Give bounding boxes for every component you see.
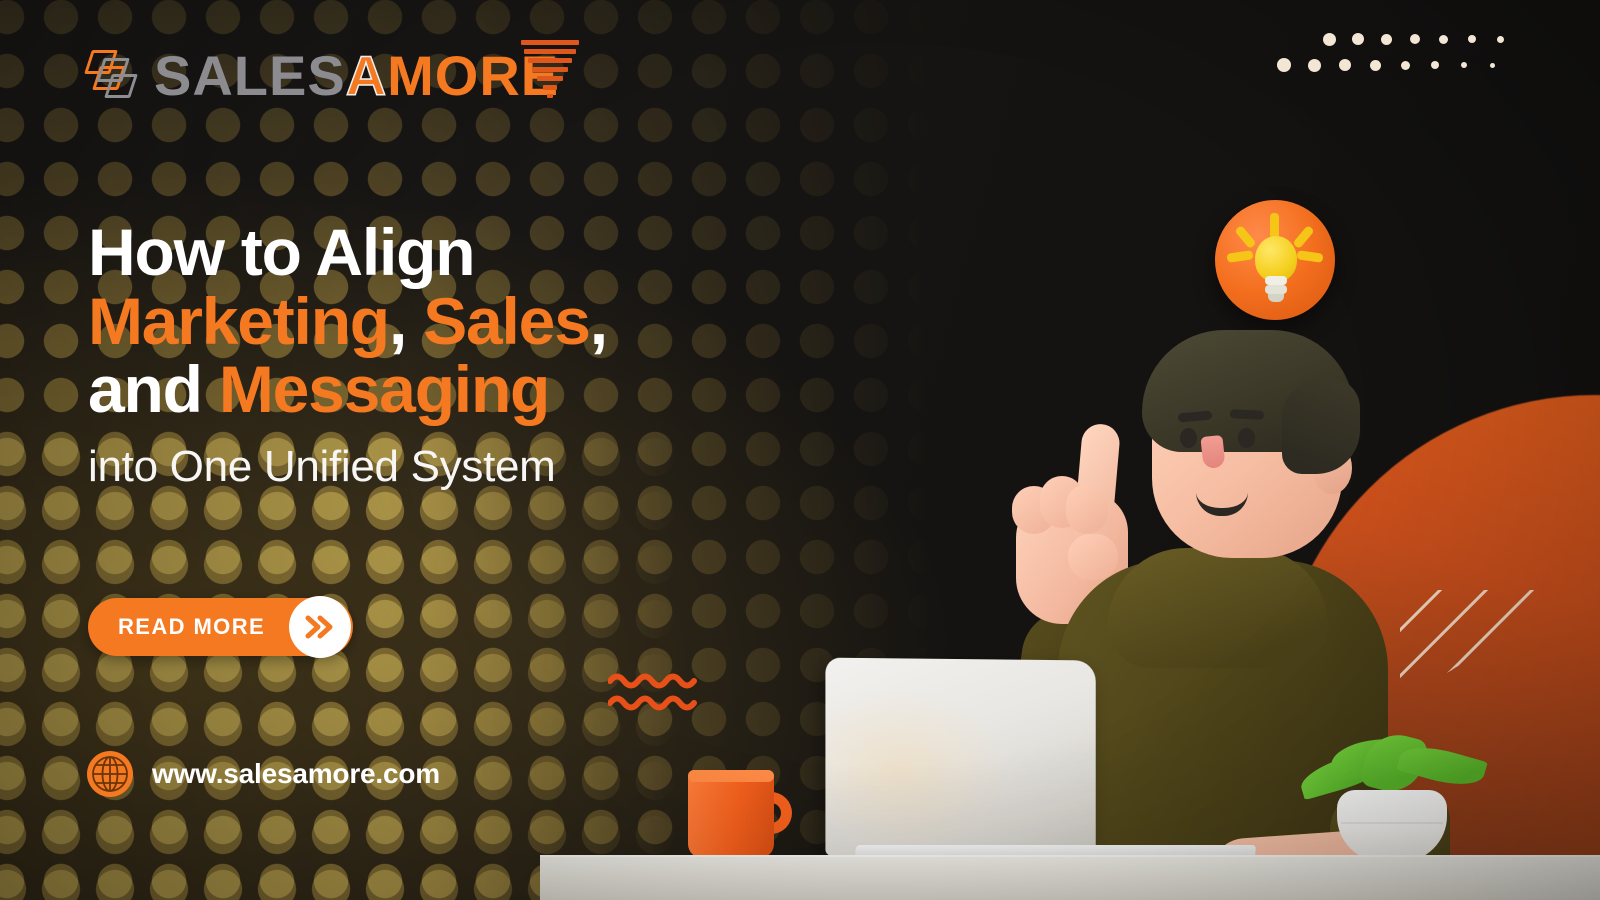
globe-icon bbox=[86, 750, 134, 798]
headline-line-2: Marketing, Sales, bbox=[88, 287, 788, 356]
headline-block: How to Align Marketing, Sales, and Messa… bbox=[88, 218, 788, 492]
headline-word-sales: Sales bbox=[423, 284, 589, 358]
logo-text-a: A bbox=[346, 44, 387, 107]
headline-word-messaging: Messaging bbox=[219, 352, 549, 426]
headline-word-and: and bbox=[88, 352, 202, 426]
potted-plant-icon bbox=[1295, 728, 1485, 860]
read-more-arrow-circle[interactable] bbox=[289, 596, 351, 658]
brand-wordmark: SALESAMORE bbox=[154, 48, 559, 104]
headline-line-1: How to Align bbox=[88, 218, 788, 287]
sales-funnel-icon bbox=[520, 40, 580, 98]
promo-banner: SALESAMORE bbox=[0, 0, 1600, 900]
website-url: www.salesamore.com bbox=[152, 758, 440, 790]
double-chevron-right-icon bbox=[303, 613, 337, 641]
headline-subtitle: into One Unified System bbox=[88, 442, 788, 492]
headline-word-marketing: Marketing bbox=[88, 284, 389, 358]
laptop-icon bbox=[825, 658, 1095, 874]
read-more-label: READ MORE bbox=[118, 614, 265, 640]
read-more-button[interactable]: READ MORE bbox=[88, 598, 353, 656]
desk-surface bbox=[540, 855, 1600, 900]
halftone-dot-rows bbox=[1323, 28, 1504, 76]
lightning-parallelogram-mark bbox=[86, 48, 138, 104]
double-wave-squiggle bbox=[608, 670, 700, 719]
logo-text-sales: SALES bbox=[154, 44, 346, 107]
website-footer[interactable]: www.salesamore.com bbox=[86, 750, 440, 798]
headline-comma-2: , bbox=[590, 284, 607, 358]
headline-comma-1: , bbox=[389, 284, 406, 358]
coffee-mug-icon bbox=[688, 770, 788, 858]
brand-logo[interactable]: SALESAMORE bbox=[86, 48, 559, 104]
headline-line-3: and Messaging bbox=[88, 355, 788, 424]
